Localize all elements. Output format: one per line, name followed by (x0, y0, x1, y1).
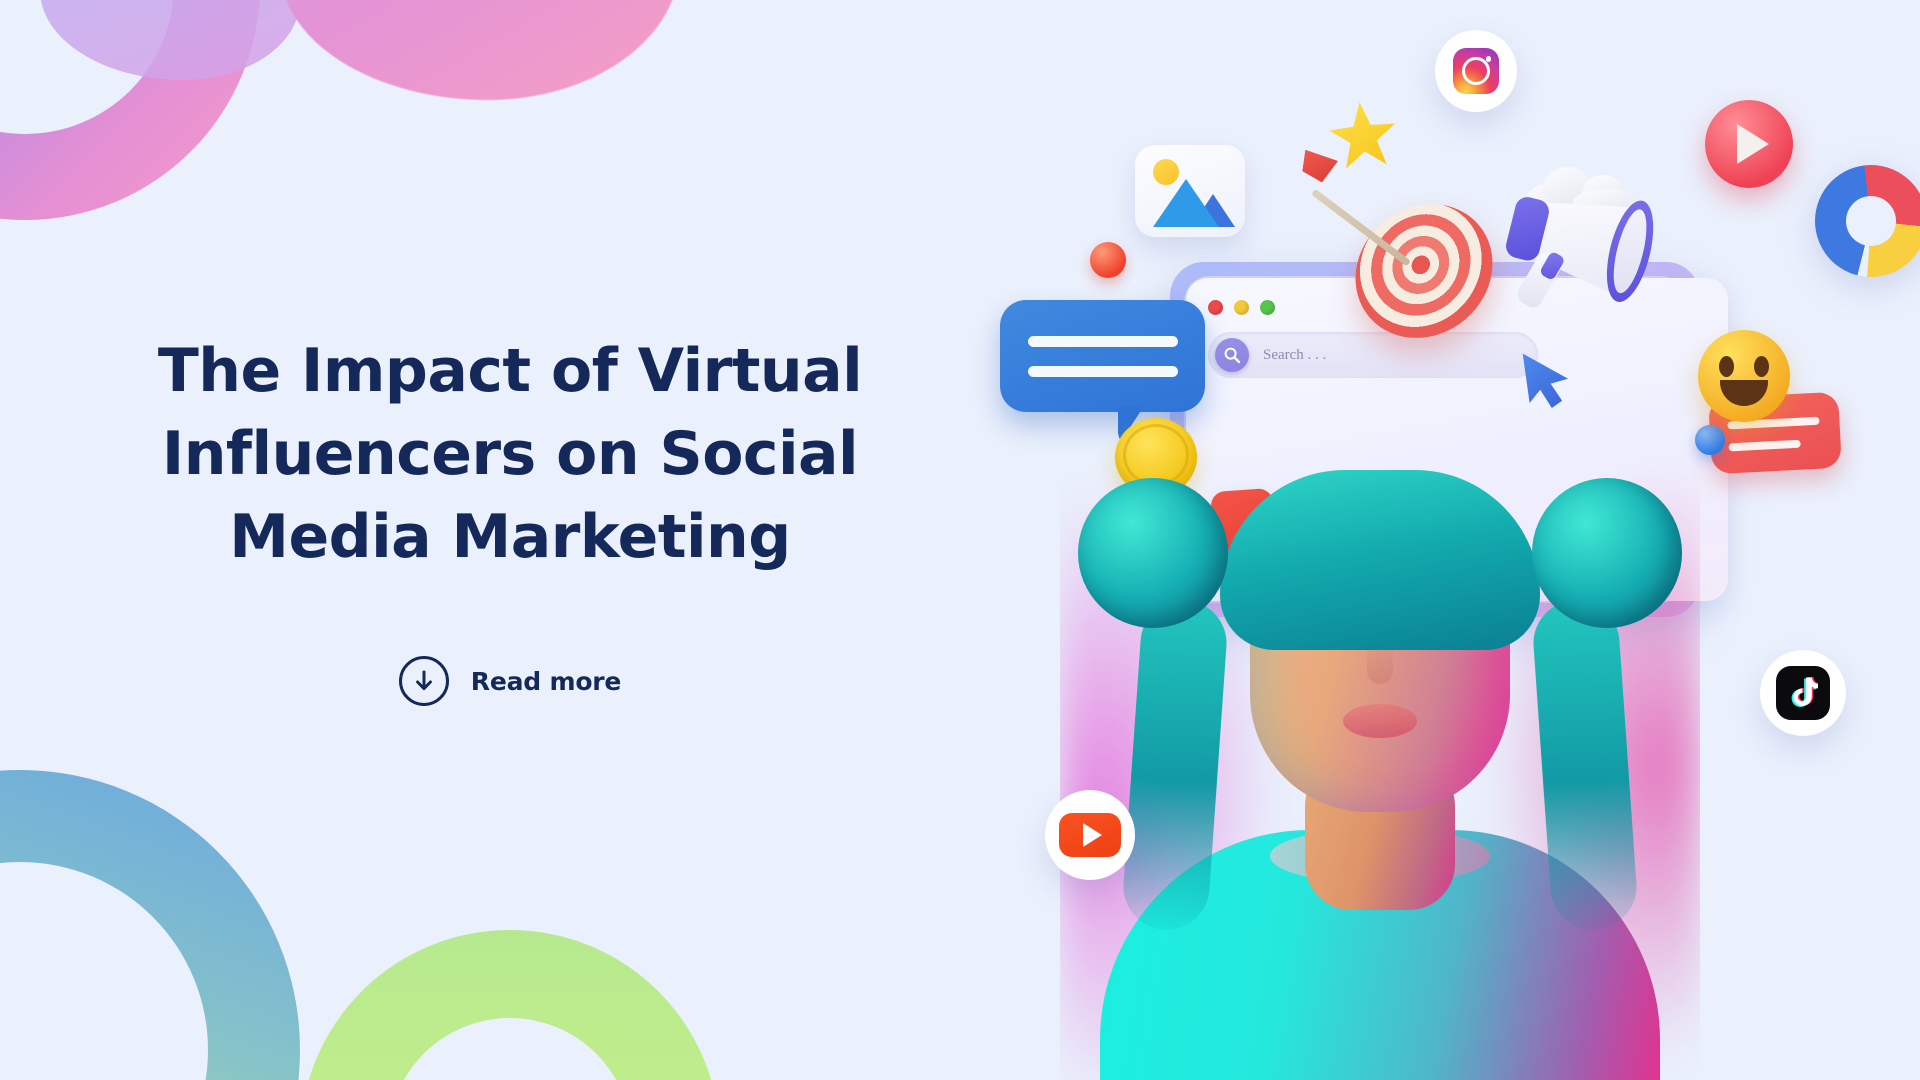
read-more-button[interactable]: Read more (399, 656, 621, 706)
page-title: The Impact of Virtual Influencers on Soc… (110, 330, 910, 578)
photo-placeholder-icon (1135, 145, 1245, 237)
circled-down-arrow-icon (399, 656, 449, 706)
read-more-label: Read more (471, 667, 621, 696)
tiktok-icon (1776, 666, 1830, 720)
minimize-dot[interactable] (1234, 300, 1249, 315)
hero-banner: The Impact of Virtual Influencers on Soc… (0, 0, 1920, 1080)
headline-line-1: The Impact of Virtual (110, 330, 910, 413)
sphere-red-icon (1090, 242, 1126, 278)
ring-top-left-decoration (0, 0, 260, 220)
ring-green-bottom-decoration (300, 930, 720, 1080)
tiktok-badge[interactable] (1760, 650, 1846, 736)
blob-top-secondary-decoration (40, 0, 300, 80)
portrait-hair (1220, 470, 1540, 650)
hero-copy: The Impact of Virtual Influencers on Soc… (110, 330, 910, 706)
youtube-badge[interactable] (1045, 790, 1135, 880)
portrait-hair-bun (1532, 478, 1682, 628)
virtual-influencer-portrait (1060, 330, 1700, 1080)
traffic-light-dots (1208, 300, 1275, 315)
youtube-icon (1059, 813, 1121, 857)
bubble-line (1728, 440, 1800, 452)
ring-bottom-left-decoration (0, 770, 300, 1080)
donut-chart-icon (1815, 165, 1920, 277)
headline-line-2: Influencers on Social (110, 413, 910, 496)
instagram-icon (1453, 48, 1499, 94)
headline-line-3: Media Marketing (110, 496, 910, 579)
smiley-icon (1698, 330, 1790, 422)
arrow-fletching-icon (1301, 150, 1339, 184)
star-icon (1327, 99, 1400, 172)
maximize-dot[interactable] (1260, 300, 1275, 315)
close-dot[interactable] (1208, 300, 1223, 315)
instagram-badge[interactable] (1435, 30, 1517, 112)
blob-top-decoration (280, 0, 680, 100)
play-button-icon (1705, 100, 1793, 188)
mountain-shape (1153, 179, 1219, 227)
portrait-hair-bun (1078, 478, 1228, 628)
